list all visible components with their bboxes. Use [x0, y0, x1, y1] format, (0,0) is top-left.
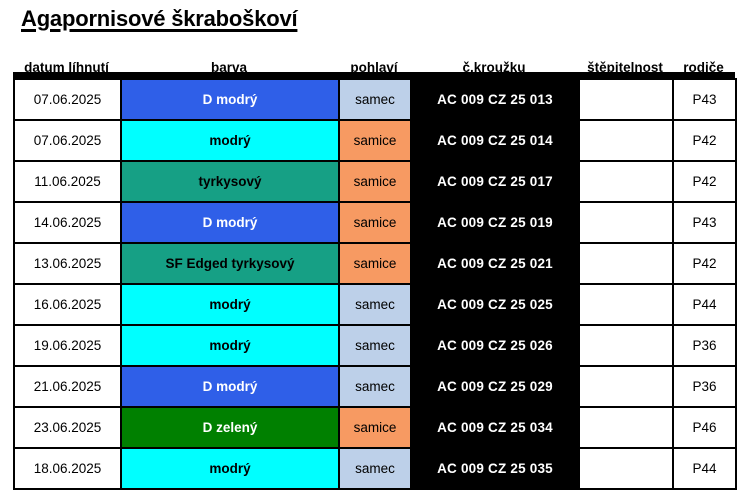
cell-color: modrý — [121, 120, 339, 161]
cell-color: modrý — [121, 325, 339, 366]
table-container: 07.06.2025D modrýsamecAC 009 CZ 25 013P4… — [13, 78, 735, 490]
cell-parents: P44 — [673, 284, 736, 325]
cell-parents: P42 — [673, 243, 736, 284]
cell-parents: P42 — [673, 161, 736, 202]
cell-color: D modrý — [121, 366, 339, 407]
cell-color: D modrý — [121, 79, 339, 120]
page-title: Agapornisové škraboškoví — [21, 6, 297, 32]
table-row: 16.06.2025modrýsamecAC 009 CZ 25 025P44 — [14, 284, 736, 325]
cell-split — [579, 448, 673, 489]
cell-parents: P42 — [673, 120, 736, 161]
cell-sex: samice — [339, 202, 411, 243]
table-row: 21.06.2025D modrýsamecAC 009 CZ 25 029P3… — [14, 366, 736, 407]
cell-ring: AC 009 CZ 25 026 — [411, 325, 579, 366]
table-row: 11.06.2025tyrkysovýsamiceAC 009 CZ 25 01… — [14, 161, 736, 202]
cell-ring: AC 009 CZ 25 034 — [411, 407, 579, 448]
cell-sex: samice — [339, 161, 411, 202]
cell-date: 07.06.2025 — [14, 79, 121, 120]
cell-date: 16.06.2025 — [14, 284, 121, 325]
cell-ring: AC 009 CZ 25 035 — [411, 448, 579, 489]
table-row: 07.06.2025D modrýsamecAC 009 CZ 25 013P4… — [14, 79, 736, 120]
cell-color: D zelený — [121, 407, 339, 448]
cell-color: SF Edged tyrkysový — [121, 243, 339, 284]
cell-parents: P44 — [673, 448, 736, 489]
table-row: 23.06.2025D zelenýsamiceAC 009 CZ 25 034… — [14, 407, 736, 448]
cell-split — [579, 284, 673, 325]
cell-split — [579, 79, 673, 120]
cell-date: 21.06.2025 — [14, 366, 121, 407]
cell-sex: samec — [339, 325, 411, 366]
cell-split — [579, 202, 673, 243]
cell-parents: P46 — [673, 407, 736, 448]
cell-sex: samice — [339, 120, 411, 161]
table-body: 07.06.2025D modrýsamecAC 009 CZ 25 013P4… — [14, 79, 736, 489]
cell-color: D modrý — [121, 202, 339, 243]
cell-date: 13.06.2025 — [14, 243, 121, 284]
cell-date: 07.06.2025 — [14, 120, 121, 161]
cell-color: tyrkysový — [121, 161, 339, 202]
cell-ring: AC 009 CZ 25 019 — [411, 202, 579, 243]
cell-split — [579, 120, 673, 161]
cell-ring: AC 009 CZ 25 029 — [411, 366, 579, 407]
page-root: Agapornisové škraboškoví datum líhnutí b… — [0, 0, 742, 480]
cell-split — [579, 161, 673, 202]
cell-date: 23.06.2025 — [14, 407, 121, 448]
cell-split — [579, 243, 673, 284]
cell-ring: AC 009 CZ 25 013 — [411, 79, 579, 120]
cell-parents: P36 — [673, 325, 736, 366]
cell-ring: AC 009 CZ 25 021 — [411, 243, 579, 284]
cell-date: 14.06.2025 — [14, 202, 121, 243]
table-row: 18.06.2025modrýsamecAC 009 CZ 25 035P44 — [14, 448, 736, 489]
cell-split — [579, 407, 673, 448]
cell-sex: samec — [339, 448, 411, 489]
cell-parents: P43 — [673, 202, 736, 243]
cell-date: 19.06.2025 — [14, 325, 121, 366]
cell-ring: AC 009 CZ 25 025 — [411, 284, 579, 325]
cell-color: modrý — [121, 284, 339, 325]
table-row: 19.06.2025modrýsamecAC 009 CZ 25 026P36 — [14, 325, 736, 366]
cell-sex: samec — [339, 79, 411, 120]
cell-ring: AC 009 CZ 25 017 — [411, 161, 579, 202]
cell-color: modrý — [121, 448, 339, 489]
cell-split — [579, 366, 673, 407]
table-row: 07.06.2025modrýsamiceAC 009 CZ 25 014P42 — [14, 120, 736, 161]
cell-sex: samice — [339, 243, 411, 284]
cell-ring: AC 009 CZ 25 014 — [411, 120, 579, 161]
cell-date: 11.06.2025 — [14, 161, 121, 202]
cell-sex: samice — [339, 407, 411, 448]
cell-sex: samec — [339, 366, 411, 407]
cell-sex: samec — [339, 284, 411, 325]
breeding-records-table: 07.06.2025D modrýsamecAC 009 CZ 25 013P4… — [13, 78, 737, 490]
cell-parents: P43 — [673, 79, 736, 120]
table-row: 14.06.2025D modrýsamiceAC 009 CZ 25 019P… — [14, 202, 736, 243]
table-row: 13.06.2025SF Edged tyrkysovýsamiceAC 009… — [14, 243, 736, 284]
cell-parents: P36 — [673, 366, 736, 407]
cell-date: 18.06.2025 — [14, 448, 121, 489]
cell-split — [579, 325, 673, 366]
